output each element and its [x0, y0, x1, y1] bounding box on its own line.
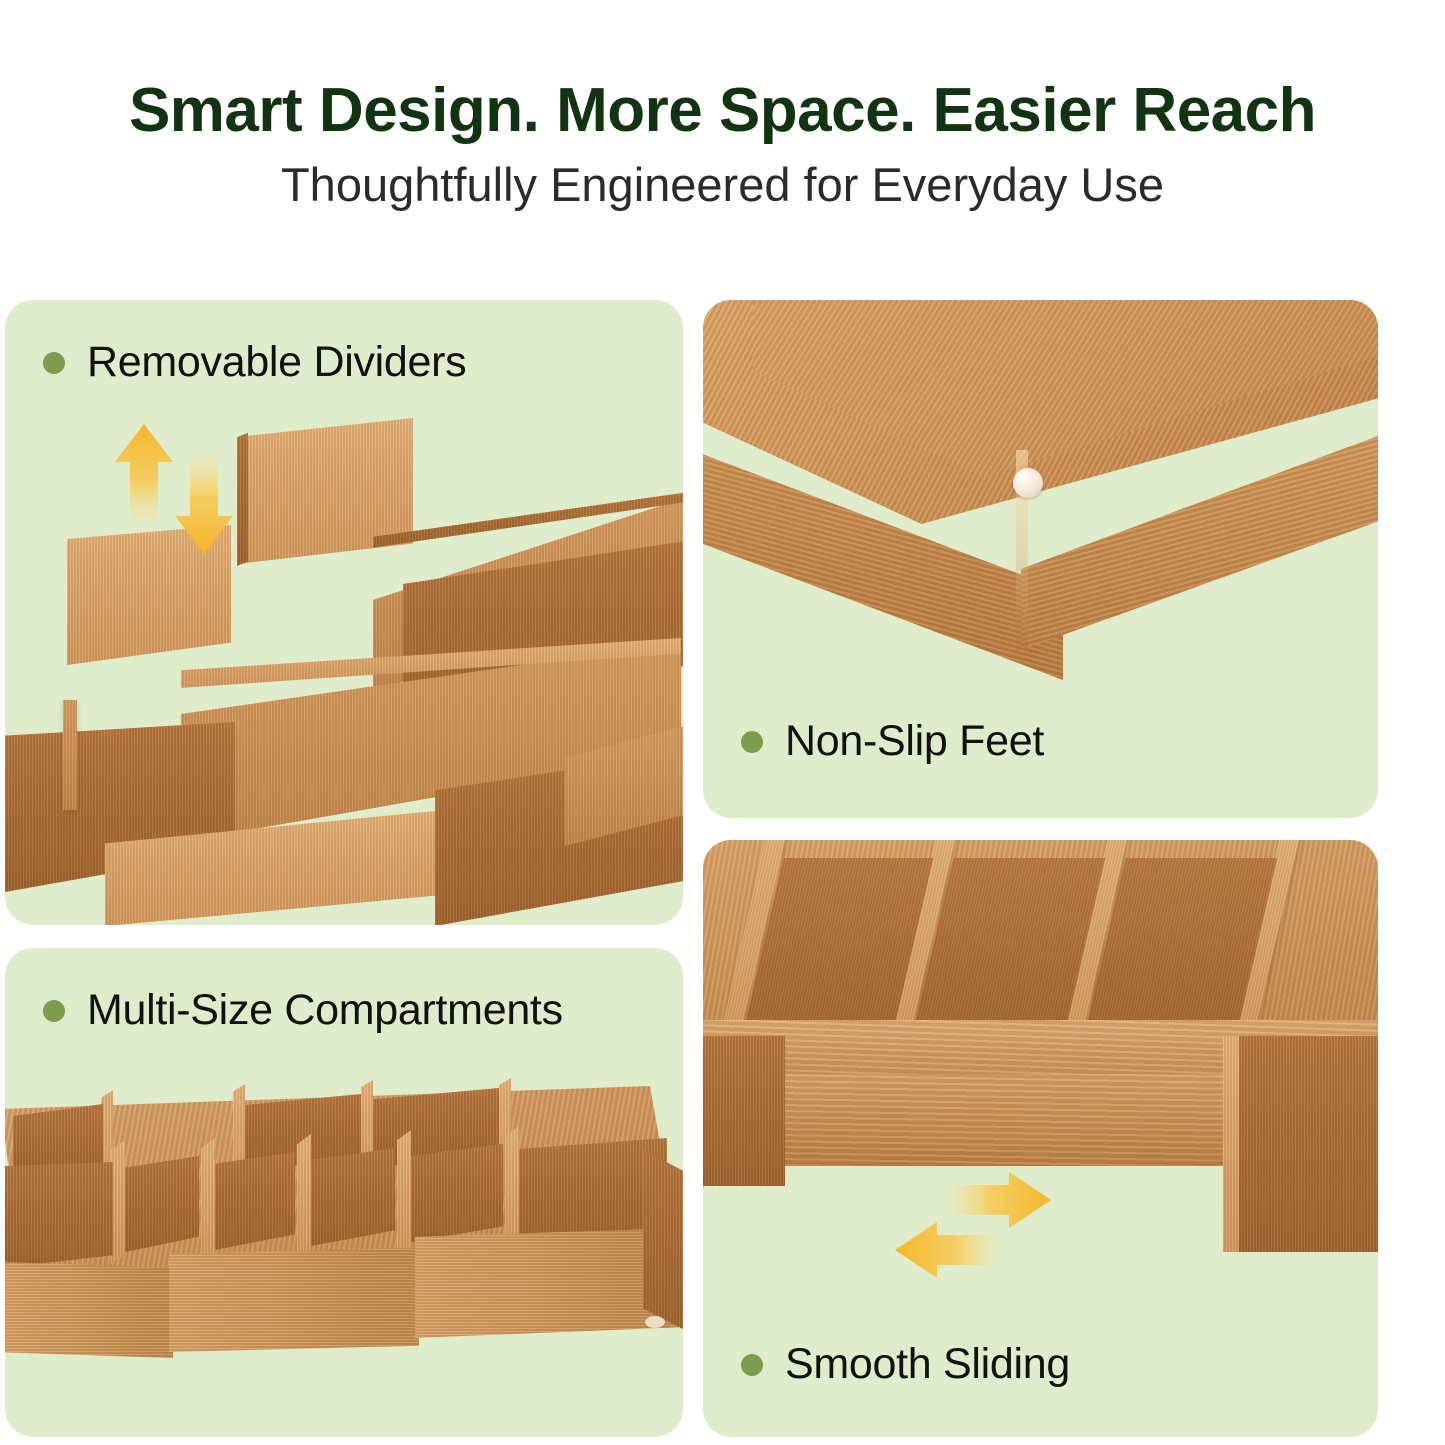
- left-right-arrows-icon: [893, 1172, 1053, 1282]
- feature-panel-smooth-sliding: Smooth Sliding: [703, 840, 1378, 1437]
- tray-front-rim-right: [415, 1228, 683, 1338]
- panel-label-non-slip-feet: Non-Slip Feet: [741, 717, 1044, 766]
- compartment-wall: [201, 1138, 215, 1266]
- tray-right-face: [643, 1150, 683, 1330]
- page-subheadline: Thoughtfully Engineered for Everyday Use: [0, 159, 1445, 211]
- bullet-dot-icon: [741, 1354, 763, 1376]
- panel-label-text: Multi-Size Compartments: [87, 986, 563, 1035]
- compartment-left-lower-wall: [63, 700, 77, 810]
- compartment-cell: [215, 1152, 295, 1250]
- up-down-arrows-icon: [111, 422, 241, 562]
- page-headline: Smart Design. More Space. Easier Reach: [0, 78, 1445, 143]
- organizer-left-block: [703, 1036, 785, 1186]
- organizer-front-rail-lower: [779, 1074, 1231, 1166]
- panel-label-smooth-sliding: Smooth Sliding: [741, 1340, 1070, 1389]
- panel-label-multi-size-compartments: Multi-Size Compartments: [43, 986, 563, 1035]
- non-slip-foot-pad: [1013, 468, 1043, 498]
- feature-panel-non-slip-feet: Non-Slip Feet: [703, 300, 1378, 818]
- organizer-right-block: [1223, 1036, 1378, 1252]
- compartment-cell-large: [5, 1162, 113, 1268]
- bullet-dot-icon: [43, 352, 65, 374]
- panel-label-text: Smooth Sliding: [785, 1340, 1070, 1389]
- compartment-wall: [505, 1126, 519, 1252]
- image-smooth-sliding: [703, 840, 1378, 1340]
- panel-label-text: Non-Slip Feet: [785, 717, 1044, 766]
- image-removable-dividers: [5, 400, 683, 925]
- organizer-right-block-edge: [1223, 1036, 1239, 1252]
- tray-foot: [645, 1316, 665, 1328]
- compartment-cell: [311, 1148, 395, 1246]
- compartment-wall: [297, 1134, 311, 1262]
- bullet-dot-icon: [741, 731, 763, 753]
- image-multi-size-compartments: [5, 1078, 683, 1408]
- panel-label-removable-dividers: Removable Dividers: [43, 338, 466, 387]
- compartment-cell: [411, 1144, 503, 1242]
- tray-front-rim-center: [169, 1248, 419, 1352]
- compartment-cell: [125, 1156, 199, 1252]
- compartment-wall: [111, 1140, 125, 1264]
- bullet-dot-icon: [43, 1000, 65, 1022]
- tray-front-rim-left: [5, 1262, 173, 1358]
- feature-panel-multi-size-compartments: Multi-Size Compartments: [5, 948, 683, 1437]
- feature-panel-removable-dividers: Removable Dividers: [5, 300, 683, 925]
- header: Smart Design. More Space. Easier Reach T…: [0, 0, 1445, 285]
- compartment-wall: [397, 1130, 411, 1258]
- panel-label-text: Removable Dividers: [87, 338, 466, 387]
